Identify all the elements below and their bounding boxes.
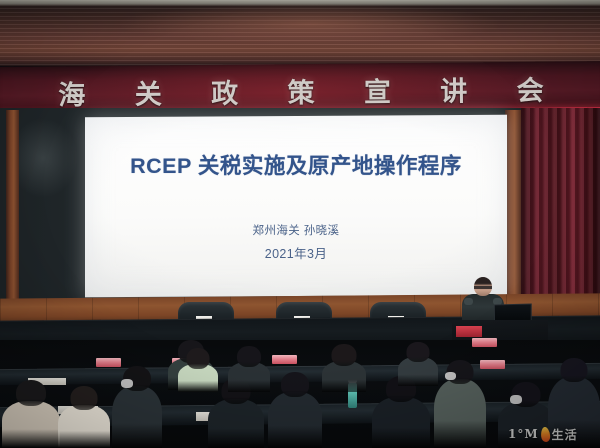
audience-name-placard — [272, 355, 297, 364]
audience-name-placard — [472, 338, 497, 347]
audience-member-head — [71, 386, 98, 410]
slide-title: RCEP 关税实施及原产地操作程序 — [85, 149, 507, 180]
face-mask-icon — [121, 379, 133, 388]
glasses-icon — [474, 286, 492, 289]
audience-member — [2, 380, 60, 448]
watermark-logo: 1°M 生活 — [508, 424, 596, 444]
audience-member — [112, 366, 162, 448]
audience-member-head — [187, 348, 210, 369]
audience-member-torso — [58, 405, 110, 448]
slide-date: 2021年3月 — [85, 243, 507, 262]
audience-member — [322, 344, 366, 392]
audience-member-torso — [268, 392, 322, 448]
audience-member-head — [281, 372, 309, 397]
audience-member — [228, 346, 270, 392]
audience-member-torso — [112, 386, 162, 448]
audience-member-head — [16, 380, 46, 406]
watermark-text-left: 1°M — [508, 427, 539, 441]
audience-member-torso — [2, 401, 60, 448]
slide-presenter: 郑州海关 孙晓溪 — [85, 222, 507, 238]
audience-member — [434, 360, 486, 448]
projection-screen: RCEP 关税实施及原产地操作程序 郑州海关 孙晓溪 2021年3月 — [85, 115, 507, 298]
audience-member-head — [407, 342, 430, 362]
red-curtain-right — [521, 108, 600, 308]
audience-member — [372, 376, 430, 448]
face-mask-icon — [445, 372, 456, 380]
audience-member-head — [561, 358, 588, 382]
face-mask-icon — [510, 395, 522, 404]
audience-member-torso — [208, 399, 264, 448]
audience-member — [178, 348, 218, 392]
ceiling-light-glow — [120, 4, 500, 44]
audience-member-torso — [434, 379, 486, 448]
projected-slide: RCEP 关税实施及原产地操作程序 郑州海关 孙晓溪 2021年3月 — [85, 116, 507, 296]
audience-member — [58, 386, 110, 448]
audience-member-head — [237, 346, 261, 367]
conference-photo-scene: 海 关 政 策 宣 讲 会 RCEP 关税实施及原产地操作程序 郑州海关 孙晓溪… — [0, 0, 600, 448]
watermark-text-right: 生活 — [552, 426, 578, 443]
flame-icon — [540, 426, 551, 442]
wood-trim-right — [505, 110, 521, 302]
audience-member-torso — [372, 397, 430, 448]
speaker-shoulder-left — [464, 298, 473, 305]
audience-member — [398, 342, 438, 386]
podium-red-placard — [456, 326, 482, 337]
audience-member-head — [332, 344, 357, 366]
event-banner-text: 海 关 政 策 宣 讲 会 — [0, 68, 600, 113]
audience-member — [268, 372, 322, 448]
wood-trim-left — [6, 110, 19, 302]
ceiling — [0, 0, 600, 66]
